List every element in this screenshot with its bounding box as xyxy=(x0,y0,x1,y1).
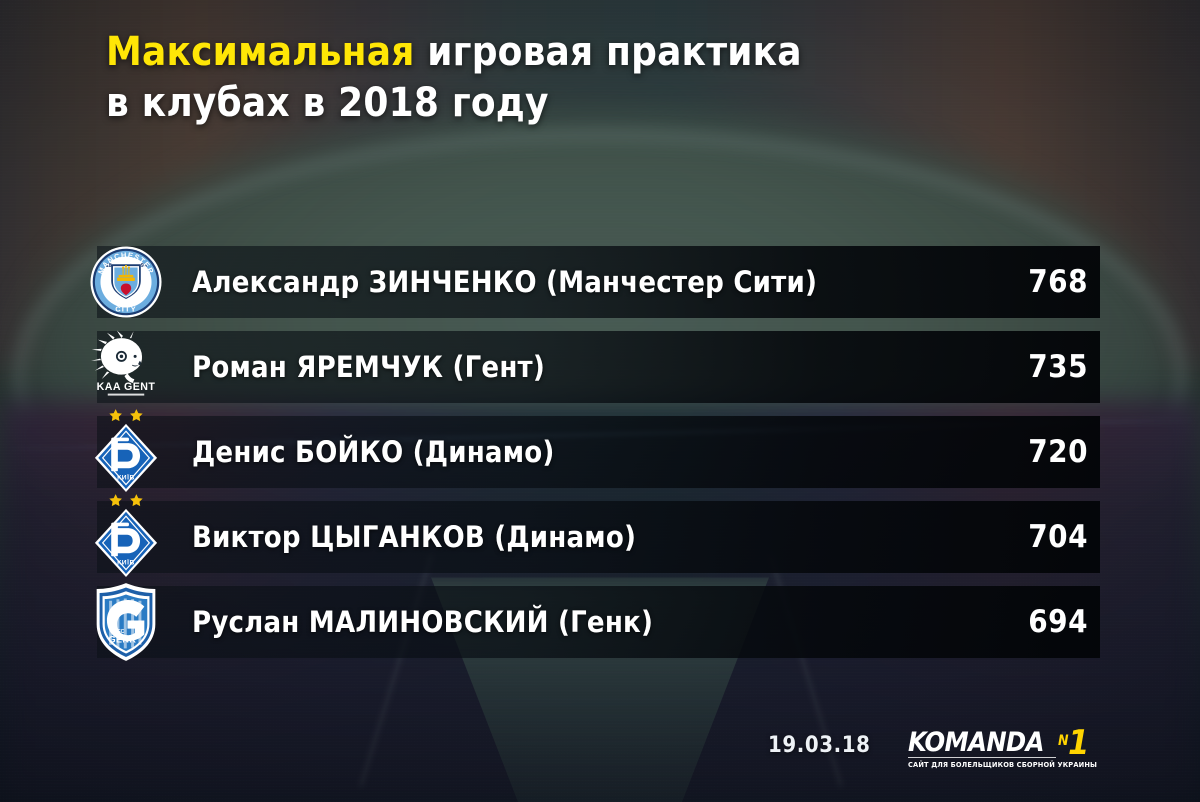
dynamo-kyiv-crest-svg: КИЇВ xyxy=(89,492,163,582)
title-line-1: Максимальная игровая практика xyxy=(106,27,1006,78)
page-title: Максимальная игровая практика в клубах в… xyxy=(106,27,1006,129)
player-name: Александр ЗИНЧЕНКО (Манчестер Сити) xyxy=(192,246,817,318)
brand-superscript: N xyxy=(1058,733,1069,749)
dynamo-kyiv-crest: КИЇВ xyxy=(84,493,168,581)
brand-number: 1 xyxy=(1068,723,1089,763)
player-value: 768 xyxy=(1028,246,1088,318)
komanda-logo[interactable]: KOMANDA N 1 САЙТ ДЛЯ БОЛЕЛЬЩИКОВ СБОРНОЙ… xyxy=(908,727,1093,775)
brand-tagline: САЙТ ДЛЯ БОЛЕЛЬЩИКОВ СБОРНОЙ УКРАИНЫ xyxy=(908,760,1060,769)
crest-text-bottom: GENK xyxy=(109,635,137,645)
player-name: Роман ЯРЕМЧУК (Гент) xyxy=(192,331,545,403)
list-item: KAA GENT Роман ЯРЕМЧУК (Гент) 735 xyxy=(0,325,1200,410)
title-line-1-rest: игровая практика xyxy=(415,29,802,75)
crest-text-bottom: KAA GENT xyxy=(97,381,156,393)
champion-stars xyxy=(109,494,142,506)
brand-divider xyxy=(908,757,1056,758)
player-name: Денис БОЙКО (Динамо) xyxy=(192,416,555,488)
player-value: 735 xyxy=(1028,331,1088,403)
kaa-gent-crest: KAA GENT xyxy=(84,323,168,411)
ranking-list: 18 94 MANCHESTER CITY Александр ЗИНЧЕНКО… xyxy=(0,240,1200,665)
list-item: FC GENK Руслан МАЛИНОВСКИЙ (Генк) 694 xyxy=(0,580,1200,665)
champion-stars xyxy=(109,409,142,421)
list-item: КИЇВ Денис БОЙКО (Динамо) 720 xyxy=(0,410,1200,495)
brand-name: KOMANDA xyxy=(908,727,1044,758)
title-line-2: в клубах в 2018 году xyxy=(106,78,1006,129)
genk-crest-svg: FC GENK xyxy=(93,581,159,663)
player-value: 704 xyxy=(1028,501,1088,573)
dynamo-kyiv-crest: КИЇВ xyxy=(84,408,168,496)
publication-date: 19.03.18 xyxy=(768,733,870,758)
dynamo-kyiv-crest-svg: КИЇВ xyxy=(89,407,163,497)
crest-text-bottom: CITY xyxy=(115,305,137,314)
manchester-city-crest: 18 94 MANCHESTER CITY xyxy=(84,238,168,326)
title-highlight-word: Максимальная xyxy=(106,29,415,75)
player-name: Виктор ЦЫГАНКОВ (Динамо) xyxy=(192,501,636,573)
list-item: 18 94 MANCHESTER CITY Александр ЗИНЧЕНКО… xyxy=(0,240,1200,325)
player-value: 694 xyxy=(1028,586,1088,658)
crest-text-bottom: КИЇВ xyxy=(117,473,135,481)
player-value: 720 xyxy=(1028,416,1088,488)
crest-text-bottom: КИЇВ xyxy=(117,558,135,566)
list-item: КИЇВ Виктор ЦЫГАНКОВ (Динамо) 704 xyxy=(0,495,1200,580)
genk-crest: FC GENK xyxy=(84,578,168,666)
kaa-gent-crest-svg: KAA GENT xyxy=(88,329,164,405)
player-name: Руслан МАЛИНОВСКИЙ (Генк) xyxy=(192,586,653,658)
infographic-canvas: Максимальная игровая практика в клубах в… xyxy=(0,0,1200,802)
manchester-city-crest-svg: 18 94 MANCHESTER CITY xyxy=(89,245,163,319)
